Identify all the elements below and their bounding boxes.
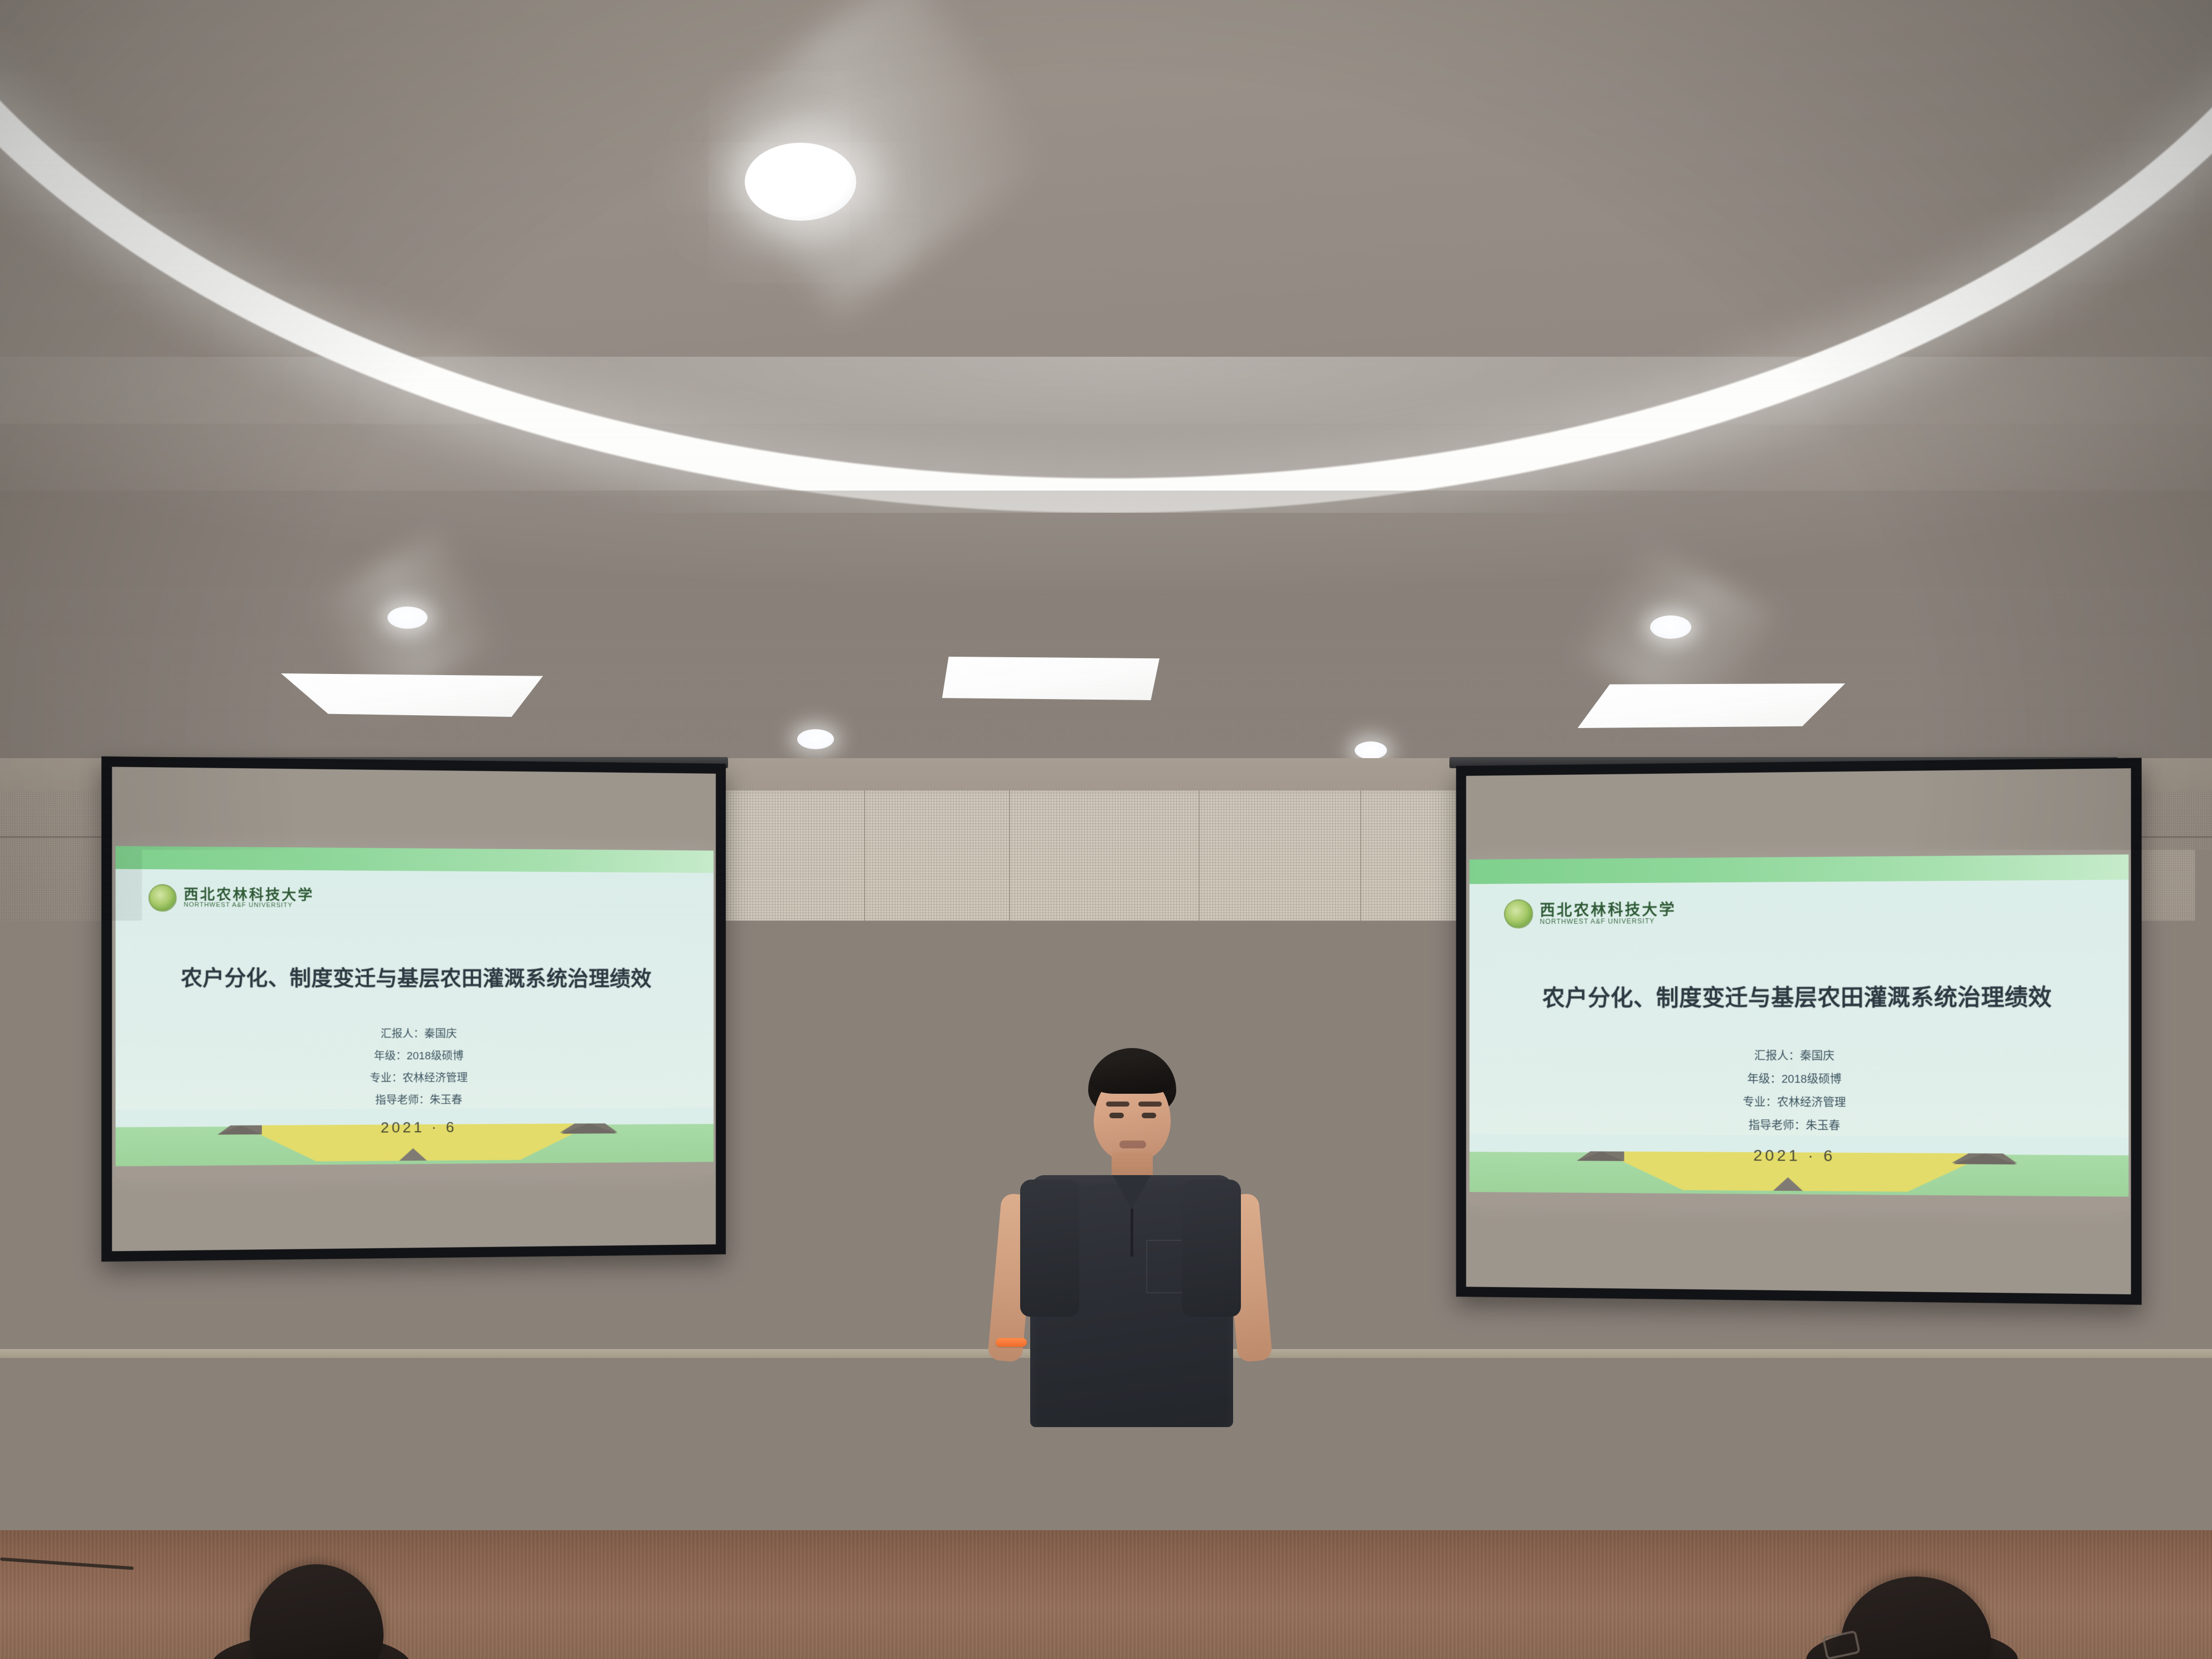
presenter-eye-left [1109, 1113, 1124, 1118]
slide-title: 农户分化、制度变迁与基层农田灌溉系统治理绩效 [1469, 978, 2128, 1012]
acoustic-panel-divider [864, 790, 865, 958]
podium-sign: 西北农林科技大学 NORTHWEST A&F UNIVERSITY MBA教育中… [826, 1401, 1293, 1463]
university-name-cn: 西北农林科技大学 [1540, 901, 1676, 918]
acoustic-panel-divider [1009, 790, 1010, 958]
slide-meta-major: 专业：农林经济管理 [115, 1067, 714, 1091]
slide-meta-block: 汇报人：秦国庆 年级：2018级硕博 专业：农林经济管理 指导老师：朱玉春 [1469, 1045, 2128, 1139]
university-name-en: NORTHWEST A&F UNIVERSITY [1540, 918, 1676, 925]
university-seal-icon [1504, 899, 1533, 928]
acoustic-panel-divider [1360, 790, 1361, 958]
slide-meta-grade: 年级：2018级硕博 [1469, 1068, 2128, 1092]
podium-sign-title-en: Master of Business Administration Educat… [874, 1436, 1219, 1452]
slide-meta-presenter: 汇报人：秦国庆 [1469, 1045, 2128, 1069]
acoustic-panel-band [725, 790, 1466, 958]
panel-light-right [1578, 683, 1845, 728]
podium-sign-rule-top [858, 1435, 1271, 1437]
podium-sign-rule-bottom [858, 1455, 1282, 1457]
university-name-en: NORTHWEST A&F UNIVERSITY [858, 1424, 922, 1428]
podium-base-seam [955, 1467, 957, 1659]
downlight-far-right [1355, 741, 1387, 759]
slide-meta-grade: 年级：2018级硕博 [115, 1045, 714, 1069]
university-name-cn: 西北农林科技大学 [184, 887, 314, 903]
acoustic-tape-mark [870, 942, 981, 950]
slide-right: 西北农林科技大学 NORTHWEST A&F UNIVERSITY 农户分化、制… [1469, 855, 2128, 1211]
presenter-eyebrow-left [1106, 1102, 1129, 1107]
dome-light [745, 143, 856, 221]
podium-speaker-vent-right [1185, 1507, 1243, 1565]
slide-university-logo: 西北农林科技大学 NORTHWEST A&F UNIVERSITY [1504, 899, 1676, 929]
university-name-en: NORTHWEST A&F UNIVERSITY [184, 902, 314, 909]
university-seal-icon [148, 884, 177, 912]
presenter-eye-right [1142, 1113, 1156, 1118]
presenter-placket [1131, 1209, 1133, 1257]
ceiling-upper-plane [0, 0, 2212, 424]
podium-base [863, 1463, 1260, 1659]
presenter-collar [1113, 1175, 1151, 1210]
slide-title: 农户分化、制度变迁与基层农田灌溉系统治理绩效 [115, 961, 714, 992]
presenter-mouth [1119, 1141, 1146, 1148]
downlight-right [1650, 615, 1691, 639]
projection-screen-right[interactable]: 西北农林科技大学 NORTHWEST A&F UNIVERSITY 农户分化、制… [1456, 758, 2142, 1304]
presenter-wristband [996, 1338, 1027, 1347]
slide-left: 西北农林科技大学 NORTHWEST A&F UNIVERSITY 农户分化、制… [115, 846, 714, 1179]
acoustic-panel-divider [1199, 790, 1200, 958]
acoustic-band-ledge [725, 957, 1466, 969]
podium-speaker-vent-left [898, 1494, 955, 1552]
projection-screen-left[interactable]: 西北农林科技大学 NORTHWEST A&F UNIVERSITY 农户分化、制… [101, 756, 726, 1262]
ceiling-lower-shade [0, 491, 2212, 803]
slide-date: 2021 · 6 [115, 1117, 714, 1138]
lecture-hall-photo: 西北农林科技大学 NORTHWEST A&F UNIVERSITY 农户分化、制… [0, 0, 2212, 1659]
podium-base-seam [1173, 1467, 1175, 1659]
slide-meta-presenter: 汇报人：秦国庆 [115, 1023, 714, 1046]
university-seal-icon [838, 1414, 854, 1429]
slide-accent-bar [1469, 855, 2128, 884]
podium-university-logo: 西北农林科技大学 NORTHWEST A&F UNIVERSITY [838, 1414, 922, 1429]
podium-desktop [825, 1367, 1299, 1401]
ceiling [0, 0, 2212, 780]
downlight-center [797, 729, 834, 749]
slide-meta-major: 专业：农林经济管理 [1469, 1090, 2128, 1115]
slide-meta-block: 汇报人：秦国庆 年级：2018级硕博 专业：农林经济管理 指导老师：朱玉春 [115, 1023, 714, 1113]
presenter-eyebrow-right [1138, 1102, 1162, 1107]
slide-university-logo: 西北农林科技大学 NORTHWEST A&F UNIVERSITY [148, 884, 314, 913]
slide-accent-bar [115, 846, 714, 873]
university-name-cn: 西北农林科技大学 [858, 1416, 922, 1424]
presenter-sleeve-left [1020, 1180, 1079, 1317]
presenter-sleeve-right [1182, 1180, 1241, 1317]
downlight-left [387, 607, 428, 629]
panel-light-center [942, 657, 1160, 700]
